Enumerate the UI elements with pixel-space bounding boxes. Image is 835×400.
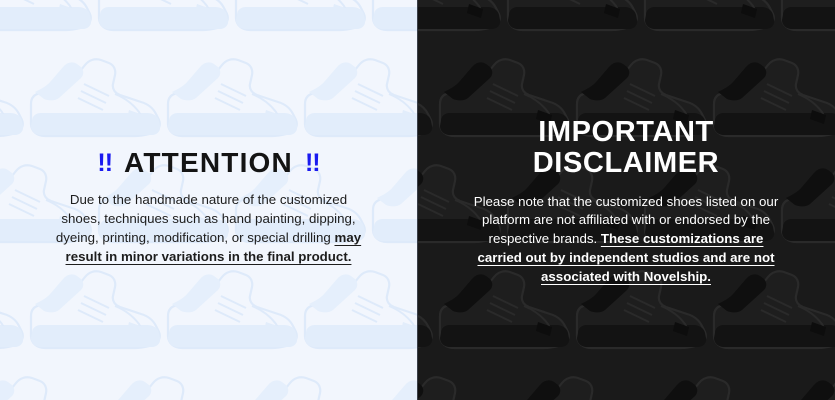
disclaimer-heading-line2: DISCLAIMER — [469, 148, 783, 179]
exclamation-left-icon: !! — [97, 151, 112, 177]
attention-panel: !! ATTENTION !! Due to the handmade natu… — [0, 0, 417, 400]
panel-divider — [417, 0, 418, 400]
attention-heading-text: ATTENTION — [124, 149, 293, 178]
disclaimer-body: Please note that the customized shoes li… — [469, 193, 783, 287]
disclaimer-heading: IMPORTANT DISCLAIMER — [469, 117, 783, 178]
attention-content: !! ATTENTION !! Due to the handmade natu… — [0, 149, 417, 266]
attention-body: Due to the handmade nature of the custom… — [55, 191, 362, 267]
attention-heading: !! ATTENTION !! — [55, 149, 362, 178]
disclaimer-content: IMPORTANT DISCLAIMER Please note that th… — [417, 117, 835, 287]
disclaimer-heading-line1: IMPORTANT — [469, 117, 783, 148]
attention-body-plain: Due to the handmade nature of the custom… — [56, 192, 356, 245]
disclaimer-panel: IMPORTANT DISCLAIMER Please note that th… — [417, 0, 835, 400]
disclaimer-banner: !! ATTENTION !! Due to the handmade natu… — [0, 0, 835, 400]
exclamation-right-icon: !! — [305, 151, 320, 177]
